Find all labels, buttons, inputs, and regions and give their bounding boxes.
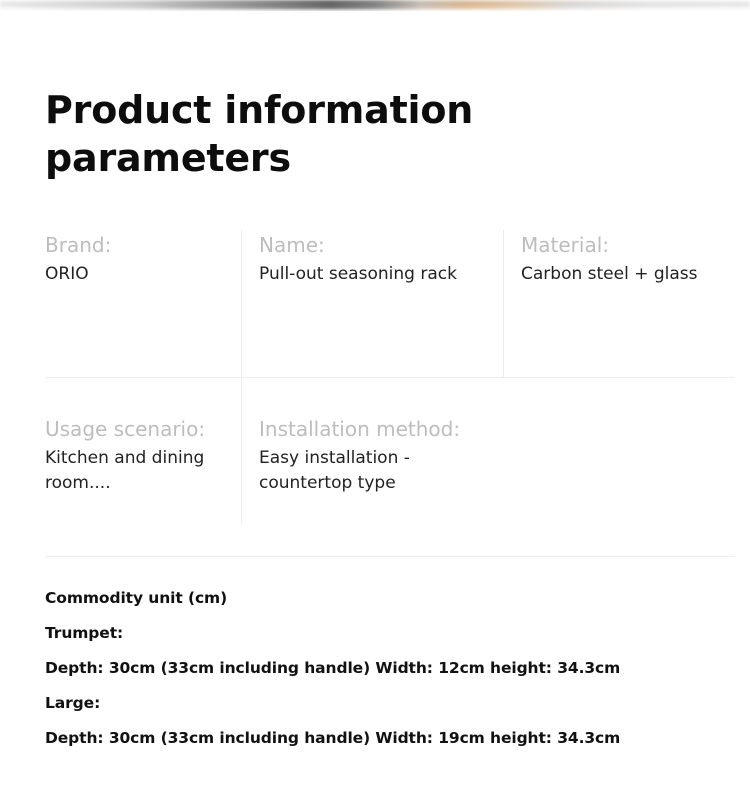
product-info-page: Product information parameters Brand: OR… [0,0,750,811]
parameter-table: Brand: ORIO Name: Pull-out seasoning rac… [45,230,735,525]
param-label-name: Name: [259,230,503,260]
param-cell-usage-scenario: Usage scenario: Kitchen and dining room.… [45,377,241,525]
param-cell-installation-method: Installation method: Easy installation -… [241,377,503,525]
param-label-installation-method: Installation method: [259,414,503,444]
page-title: Product information parameters [45,0,545,182]
specs-heading: Commodity unit (cm) [45,581,705,616]
param-value-name: Pull-out seasoning rack [259,262,503,287]
param-label-material: Material: [521,230,735,260]
commodity-unit-section: Commodity unit (cm) Trumpet: Depth: 30cm… [45,581,705,756]
param-value-brand: ORIO [45,262,241,287]
param-cell-brand: Brand: ORIO [45,230,241,377]
specs-divider [45,556,735,557]
param-label-usage-scenario: Usage scenario: [45,414,241,444]
spec-line-size-small-dimensions: Depth: 30cm (33cm including handle) Widt… [45,651,705,686]
param-cell-material: Material: Carbon steel + glass [503,230,735,377]
param-cell-empty [503,377,735,525]
spec-line-size-large-label: Large: [45,686,705,721]
param-value-material: Carbon steel + glass [521,262,735,287]
param-label-brand: Brand: [45,230,241,260]
spec-line-size-large-dimensions: Depth: 30cm (33cm including handle) Widt… [45,721,705,756]
spec-line-size-small-label: Trumpet: [45,616,705,651]
param-value-usage-scenario: Kitchen and dining room.... [45,446,241,496]
param-value-installation-method: Easy installation -countertop type [259,446,503,496]
param-cell-name: Name: Pull-out seasoning rack [241,230,503,377]
